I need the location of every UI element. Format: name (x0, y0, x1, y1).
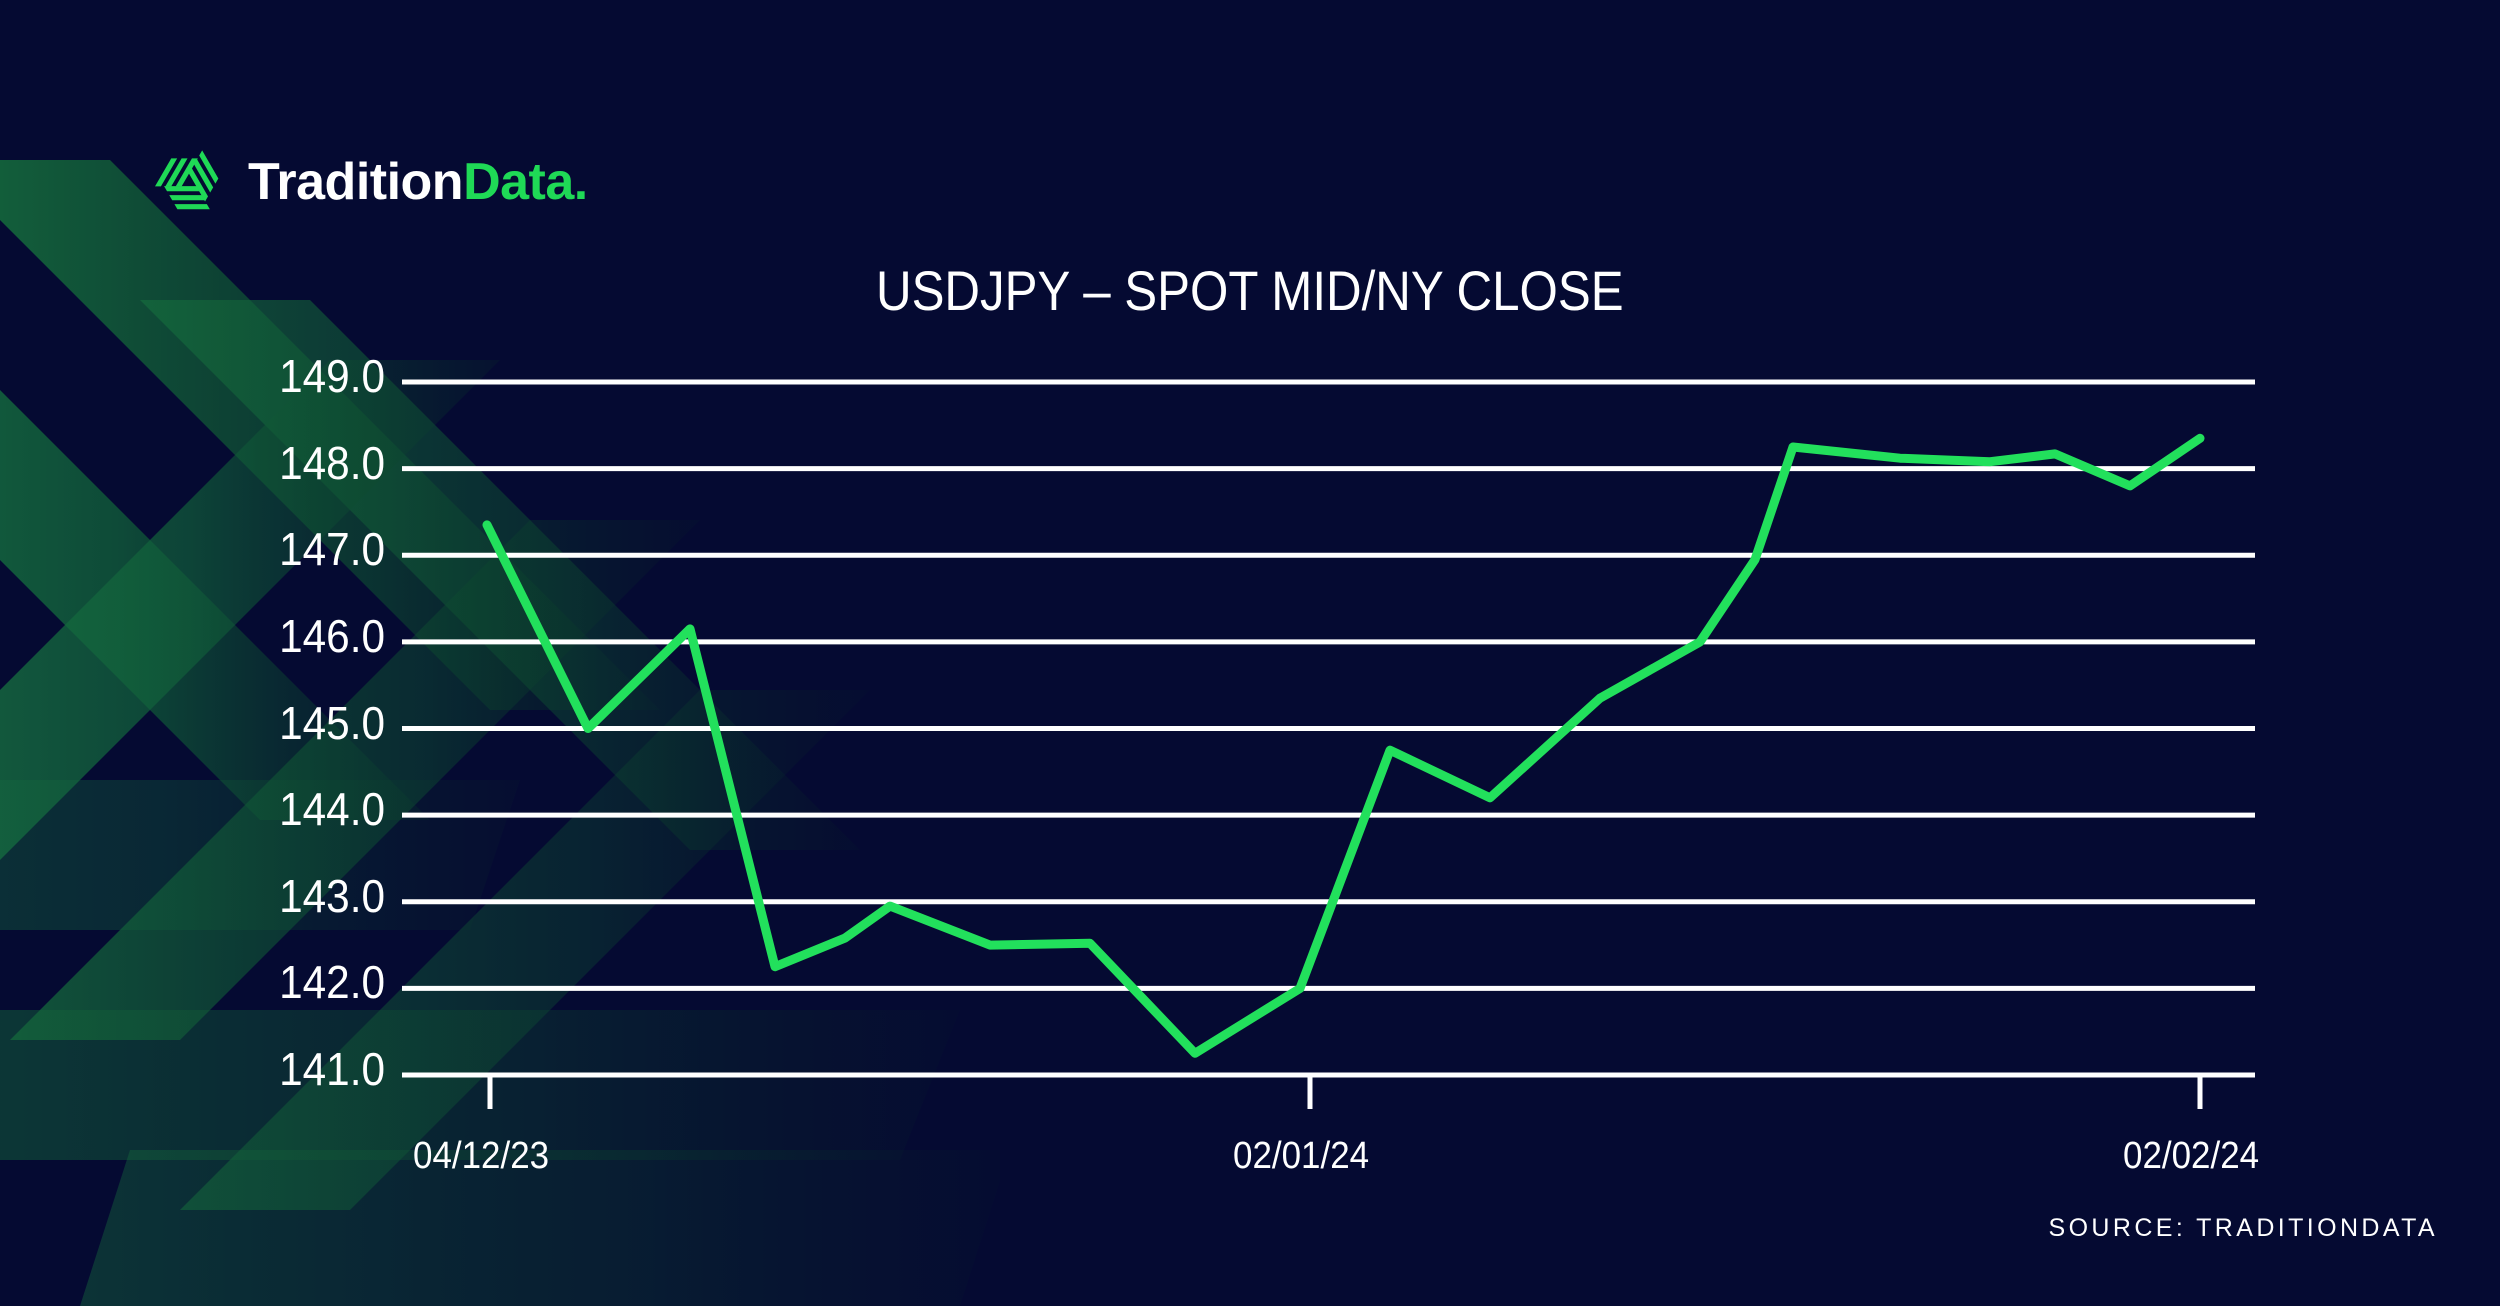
chart-page: TraditionData. USDJPY – SPOT MID/NY CLOS… (0, 0, 2500, 1306)
x-axis-tick-marks (490, 1075, 2200, 1109)
page-title: USDJPY – SPOT MID/NY CLOSE (0, 258, 2500, 323)
series-line-usdjpy (487, 438, 2200, 1053)
source-attribution: SOURCE: TRADITIONDATA (2049, 1214, 2438, 1243)
brand-logo[interactable]: TraditionData. (152, 148, 588, 216)
brand-name-data: Data. (463, 153, 588, 211)
page-title-text: USDJPY – SPOT MID/NY CLOSE (876, 258, 1624, 323)
brand-name-tradition: Tradition (248, 153, 463, 211)
gridline-group (402, 382, 2255, 1075)
tradition-triskelion-icon (152, 148, 226, 216)
brand-wordmark: TraditionData. (248, 156, 588, 208)
